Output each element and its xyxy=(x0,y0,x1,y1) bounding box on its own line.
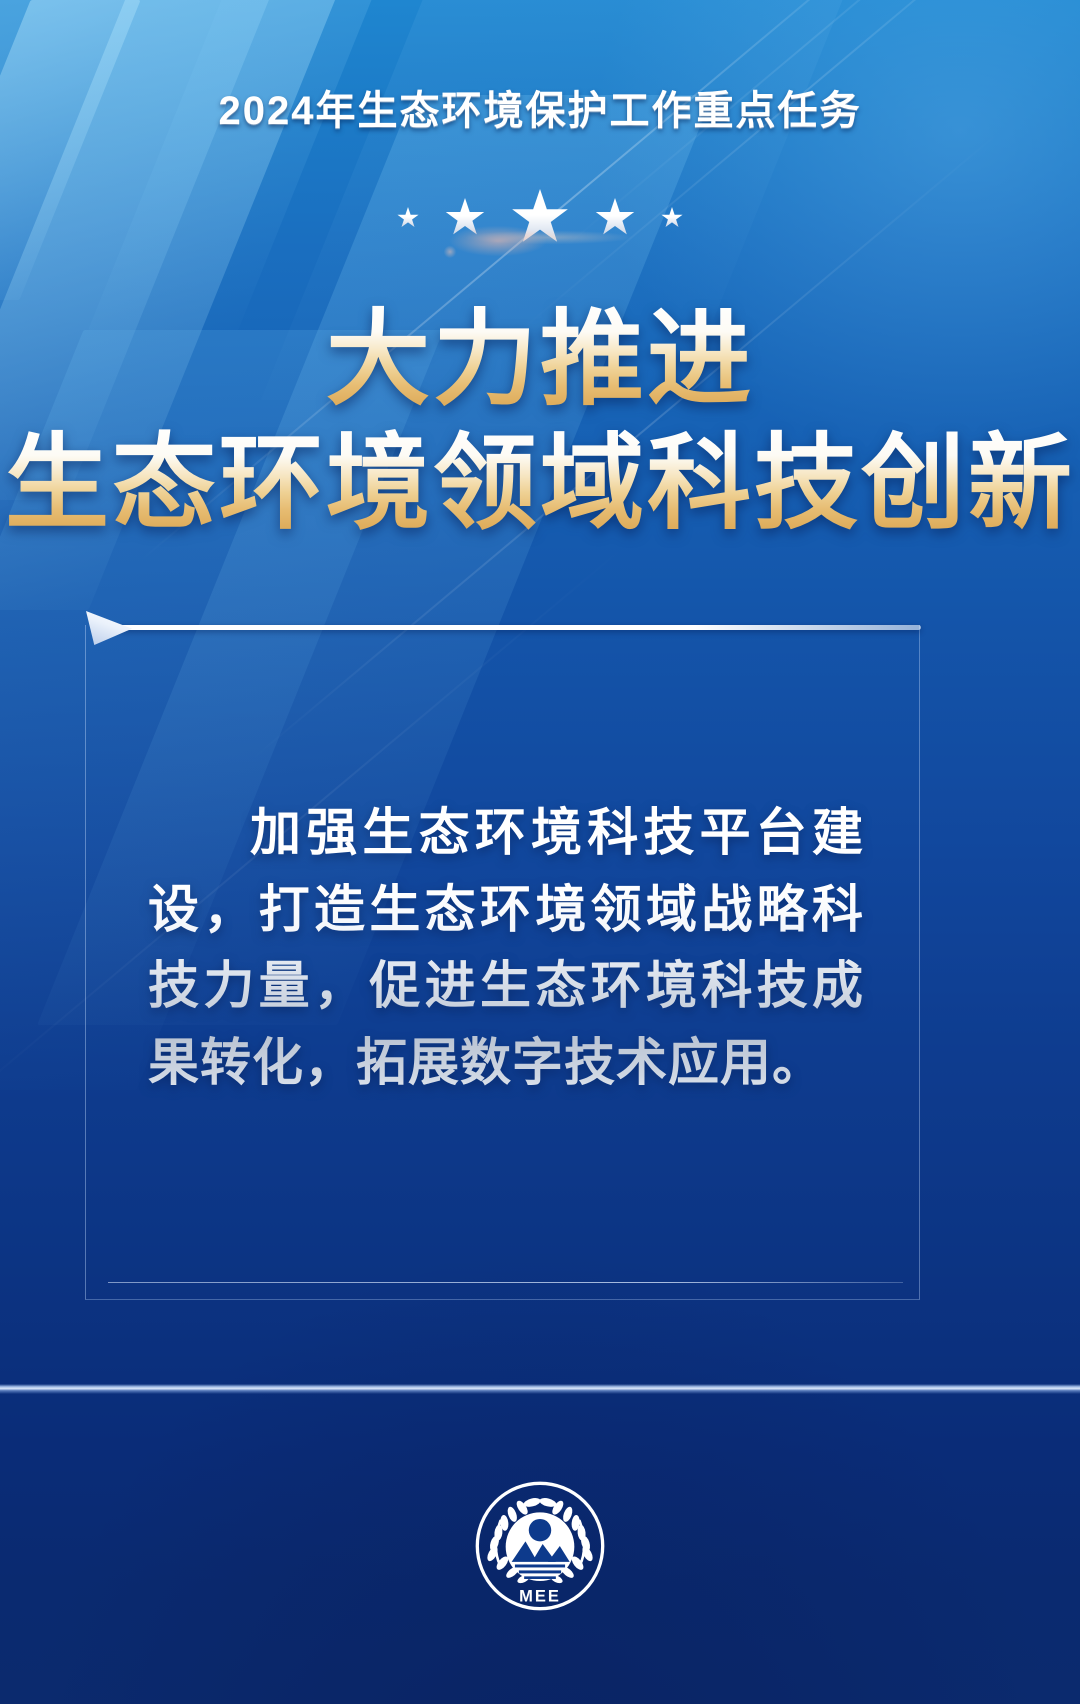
star-row xyxy=(0,183,1080,253)
main-title: 大力推进 生态环境领域科技创新 xyxy=(0,300,1080,545)
star-icon-5 xyxy=(661,207,683,229)
star-icon-4 xyxy=(595,198,635,238)
bg-parallelogram-3 xyxy=(88,0,412,330)
panel-inner-bottom-rule xyxy=(108,1282,903,1283)
content-panel: 加强生态环境科技平台建设，打造生态环境领域战略科技力量，促进生态环境科技成果转化… xyxy=(85,625,920,1300)
mee-logo: MEE xyxy=(474,1480,606,1612)
star-icon-2 xyxy=(445,198,485,238)
panel-body-text: 加强生态环境科技平台建设，打造生态环境领域战略科技力量，促进生态环境科技成果转化… xyxy=(148,795,864,1101)
bottom-vignette xyxy=(0,1244,1080,1704)
bg-parallelogram-7 xyxy=(0,0,141,300)
main-title-line-1: 大力推进 xyxy=(0,300,1080,422)
footer-divider xyxy=(0,1384,1080,1394)
panel-top-border xyxy=(114,625,921,630)
panel-corner-arrow-icon xyxy=(86,611,132,645)
bg-light-streak-3 xyxy=(519,0,1080,332)
poster-root: 2024年生态环境保护工作重点任务 大力推进 生态环境领域科技创新 加强生态环境… xyxy=(0,0,1080,1704)
mee-abbreviation: MEE xyxy=(519,1587,561,1605)
star-icon-3 xyxy=(511,189,569,247)
star-icon-1 xyxy=(397,207,419,229)
main-title-line-2: 生态环境领域科技创新 xyxy=(0,424,1080,546)
page-title: 2024年生态环境保护工作重点任务 xyxy=(0,78,1080,136)
